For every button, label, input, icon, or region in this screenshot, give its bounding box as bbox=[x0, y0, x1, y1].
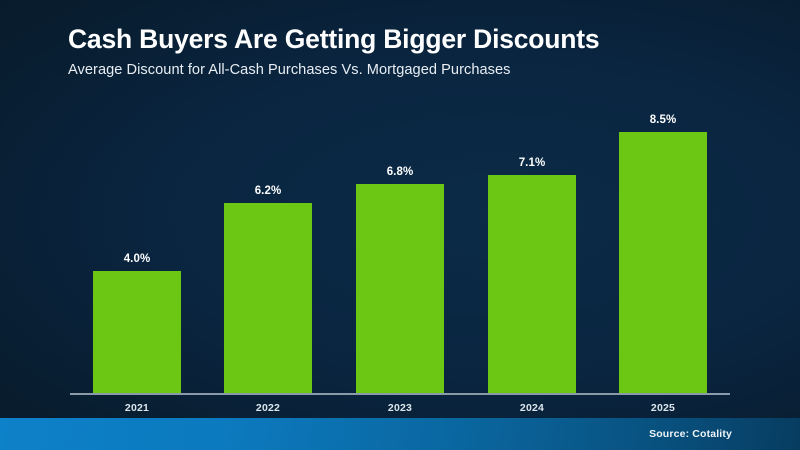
bar-group-2024[interactable]: 7.1% bbox=[488, 0, 576, 418]
bar-2024[interactable] bbox=[488, 175, 576, 393]
x-tick-2025: 2025 bbox=[619, 402, 707, 414]
footer-bar: Source: Cotality bbox=[0, 418, 800, 450]
bar-value-label-2024: 7.1% bbox=[488, 157, 576, 169]
bar-chart-plot-area: 4.0%6.2%6.8%7.1%8.5% 2021202220232024202… bbox=[0, 0, 800, 418]
bar-2025[interactable] bbox=[619, 132, 707, 393]
x-tick-2023: 2023 bbox=[356, 402, 444, 414]
bar-value-label-2022: 6.2% bbox=[224, 185, 312, 197]
x-tick-2021: 2021 bbox=[93, 402, 181, 414]
chart-slide: Cash Buyers Are Getting Bigger Discounts… bbox=[0, 0, 800, 450]
x-tick-2022: 2022 bbox=[224, 402, 312, 414]
bar-2022[interactable] bbox=[224, 203, 312, 393]
bar-value-label-2023: 6.8% bbox=[356, 166, 444, 178]
bar-value-label-2021: 4.0% bbox=[93, 253, 181, 265]
bar-group-2022[interactable]: 6.2% bbox=[224, 0, 312, 418]
bar-2023[interactable] bbox=[356, 184, 444, 393]
bar-group-2021[interactable]: 4.0% bbox=[93, 0, 181, 418]
bar-2021[interactable] bbox=[93, 271, 181, 393]
bar-value-label-2025: 8.5% bbox=[619, 114, 707, 126]
bar-group-2025[interactable]: 8.5% bbox=[619, 0, 707, 418]
x-axis-line bbox=[70, 393, 730, 395]
source-attribution: Source: Cotality bbox=[649, 428, 732, 440]
bar-group-2023[interactable]: 6.8% bbox=[356, 0, 444, 418]
x-tick-2024: 2024 bbox=[488, 402, 576, 414]
